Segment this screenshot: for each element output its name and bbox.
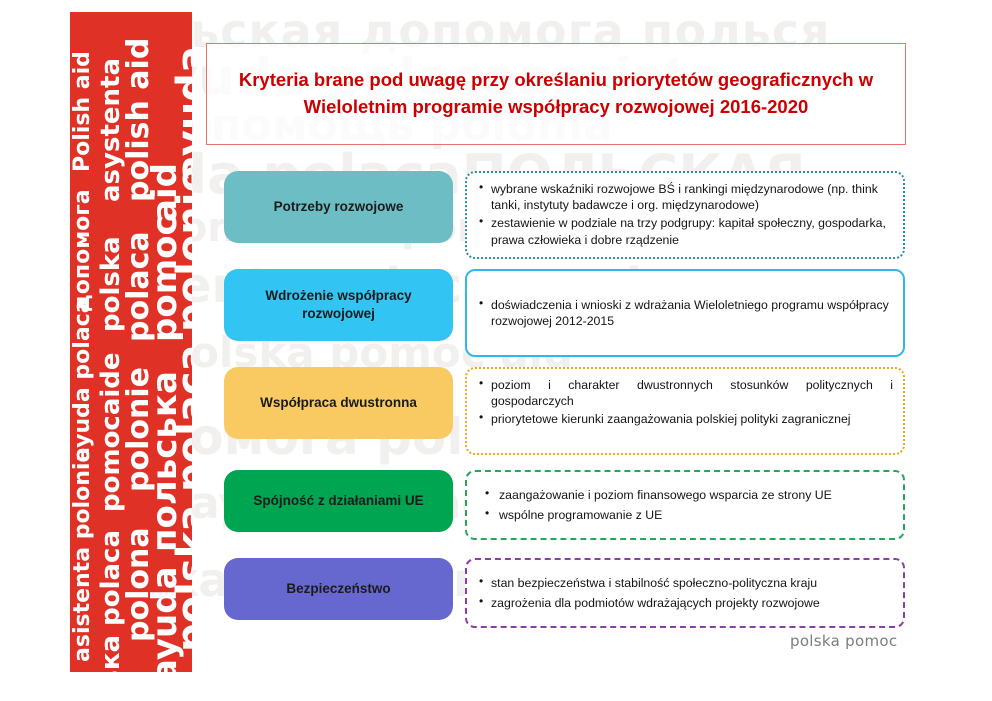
bullet-list: poziom i charakter dwustronnych stosunkó…: [479, 377, 893, 428]
criteria-row: Współpraca dwustronna poziom i charakter…: [224, 367, 905, 455]
slide-canvas: польская допомога полься de ayuda polaca…: [0, 0, 992, 701]
bullet-item: stan bezpieczeństwa i stabilność społecz…: [479, 575, 893, 591]
banner-word: polonie: [172, 165, 192, 332]
bullet-item: zagrożenia dla podmiotów wdrażających pr…: [479, 595, 893, 611]
criteria-row: Potrzeby rozwojowe wybrane wskaźniki roz…: [224, 171, 905, 259]
criteria-content-box: poziom i charakter dwustronnych stosunkó…: [465, 367, 905, 455]
banner-column: polska polaca polonie ayuda: [170, 12, 192, 672]
criteria-label: Potrzeby rozwojowe: [274, 198, 404, 216]
bullet-item: wybrane wskaźniki rozwojowe BŚ i ranking…: [479, 181, 893, 213]
criteria-label: Spójność z działaniami UE: [253, 492, 423, 510]
banner-word: ayuda polaca: [72, 298, 94, 462]
footer-brand: polska pomoc: [790, 632, 897, 650]
bullet-list: doświadczenia i wnioski z wdrażania Wiel…: [479, 297, 893, 329]
bullet-list: zaangażowanie i poziom finansowego wspar…: [485, 487, 893, 523]
bullet-list: stan bezpieczeństwa i stabilność społecz…: [479, 575, 893, 611]
banner-word: polaca: [172, 344, 192, 492]
banner-word: pomocaide: [98, 352, 124, 512]
criteria-content-box: stan bezpieczeństwa i stabilność społecz…: [465, 558, 905, 628]
bullet-item: poziom i charakter dwustronnych stosunkó…: [479, 377, 893, 409]
banner-word: ська polaca: [98, 530, 124, 672]
banner-word: Polish aid: [72, 51, 94, 172]
criteria-row: Bezpieczeństwo stan bezpieczeństwa i sta…: [224, 558, 905, 628]
criteria-label: Bezpieczeństwo: [286, 580, 390, 598]
bullet-item: zestawienie w podziale na trzy podgrupy:…: [479, 215, 893, 247]
criteria-row: Spójność z działaniami UE zaangażowanie …: [224, 470, 905, 540]
criteria-label: Współpraca dwustronna: [260, 394, 417, 412]
criteria-label-box[interactable]: Wdrożenie współpracy rozwojowej: [224, 269, 453, 341]
bullet-item: doświadczenia i wnioski z wdrażania Wiel…: [479, 297, 893, 329]
banner-word: ayuda: [172, 46, 192, 182]
criteria-label-box[interactable]: Potrzeby rozwojowe: [224, 171, 453, 243]
page-title: Kryteria brane pod uwagę przy określaniu…: [207, 67, 905, 121]
criteria-row: Wdrożenie współpracy rozwojowej doświadc…: [224, 269, 905, 357]
criteria-content-box: wybrane wskaźniki rozwojowe BŚ i ranking…: [465, 171, 905, 259]
criteria-content-box: zaangażowanie i poziom finansowego wspar…: [465, 470, 905, 540]
bullet-item: priorytetowe kierunki zaangażowania pols…: [479, 411, 893, 427]
criteria-label-box[interactable]: Bezpieczeństwo: [224, 558, 453, 620]
banner-word: asistenta polonie: [72, 448, 94, 662]
bullet-item: zaangażowanie i poziom finansowego wspar…: [485, 487, 893, 503]
banner-word: допомога: [72, 189, 94, 312]
red-side-banner: asistenta polonie ayuda polaca допомога …: [70, 12, 192, 672]
criteria-label-box[interactable]: Spójność z działaniami UE: [224, 470, 453, 532]
criteria-label-box[interactable]: Współpraca dwustronna: [224, 367, 453, 439]
title-box: Kryteria brane pod uwagę przy określaniu…: [206, 43, 906, 145]
bullet-item: wspólne programowanie z UE: [485, 507, 893, 523]
criteria-content-box: doświadczenia i wnioski z wdrażania Wiel…: [465, 269, 905, 357]
banner-word: polska: [172, 505, 192, 652]
criteria-label: Wdrożenie współpracy rozwojowej: [234, 287, 443, 322]
banner-word: asystenta: [98, 58, 124, 202]
banner-word: polska: [98, 236, 124, 332]
bullet-list: wybrane wskaźniki rozwojowe BŚ i ranking…: [479, 181, 893, 248]
